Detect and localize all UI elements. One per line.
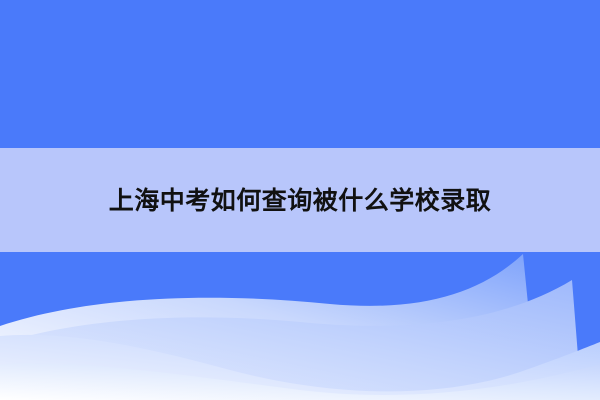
top-blue-band — [0, 0, 600, 148]
wave-band — [0, 252, 600, 400]
decorative-banner: 上海中考如何查询被什么学校录取 — [0, 0, 600, 400]
title-band: 上海中考如何查询被什么学校录取 — [0, 148, 600, 252]
wave-graphic — [0, 252, 600, 400]
page-title: 上海中考如何查询被什么学校录取 — [109, 188, 492, 213]
